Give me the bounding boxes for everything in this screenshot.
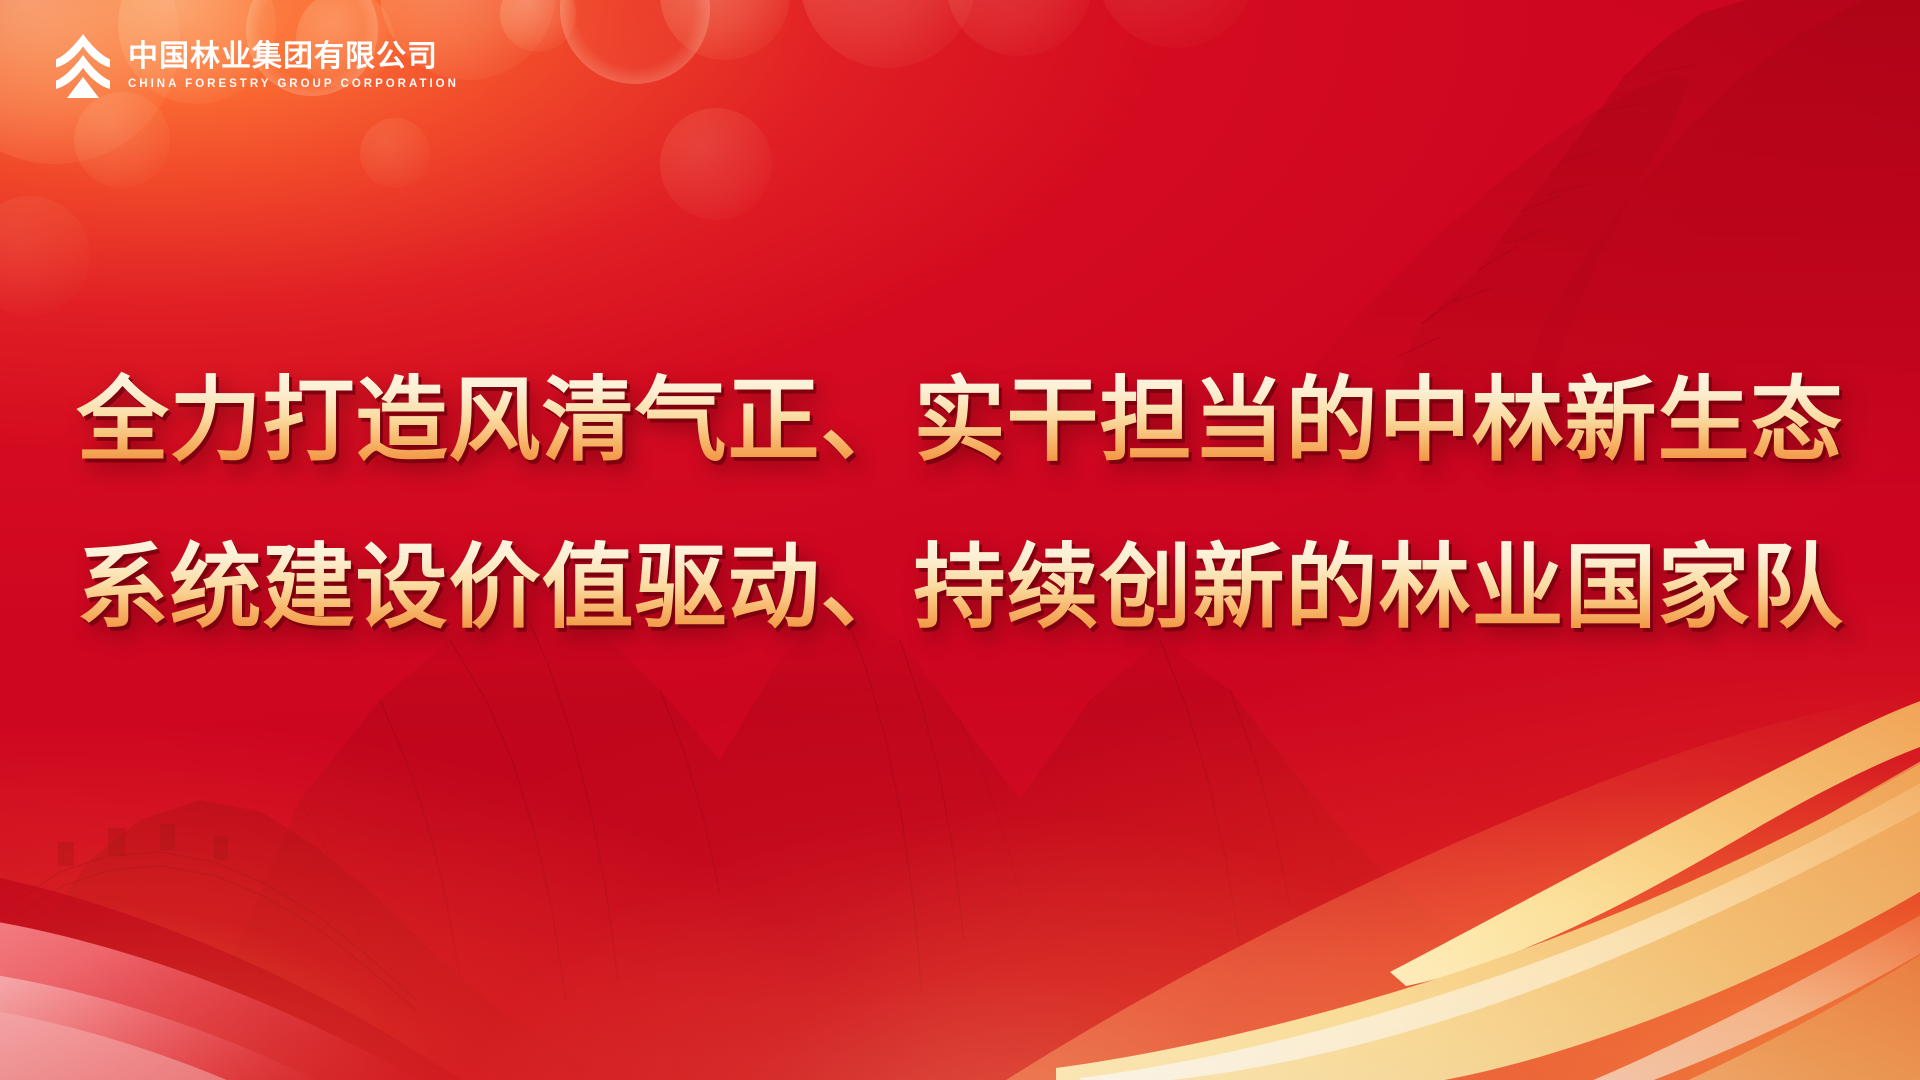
headline-line-2: 系统建设价值驱动、持续创新的林业国家队 <box>44 522 1876 655</box>
logo-company-name-en: CHINA FORESTRY GROUP CORPORATION <box>128 78 459 91</box>
company-logo[interactable]: 中国林业集团有限公司 CHINA FORESTRY GROUP CORPORAT… <box>52 32 459 98</box>
poster-canvas: 中国林业集团有限公司 CHINA FORESTRY GROUP CORPORAT… <box>0 0 1920 1080</box>
forestry-mountain-icon <box>52 32 114 98</box>
headline-line-1: 全力打造风清气正、实干担当的中林新生态 <box>44 355 1876 488</box>
logo-text-group: 中国林业集团有限公司 CHINA FORESTRY GROUP CORPORAT… <box>128 39 459 91</box>
headline-block: 全力打造风清气正、实干担当的中林新生态 系统建设价值驱动、持续创新的林业国家队 <box>0 355 1920 656</box>
logo-company-name-cn: 中国林业集团有限公司 <box>128 41 459 73</box>
